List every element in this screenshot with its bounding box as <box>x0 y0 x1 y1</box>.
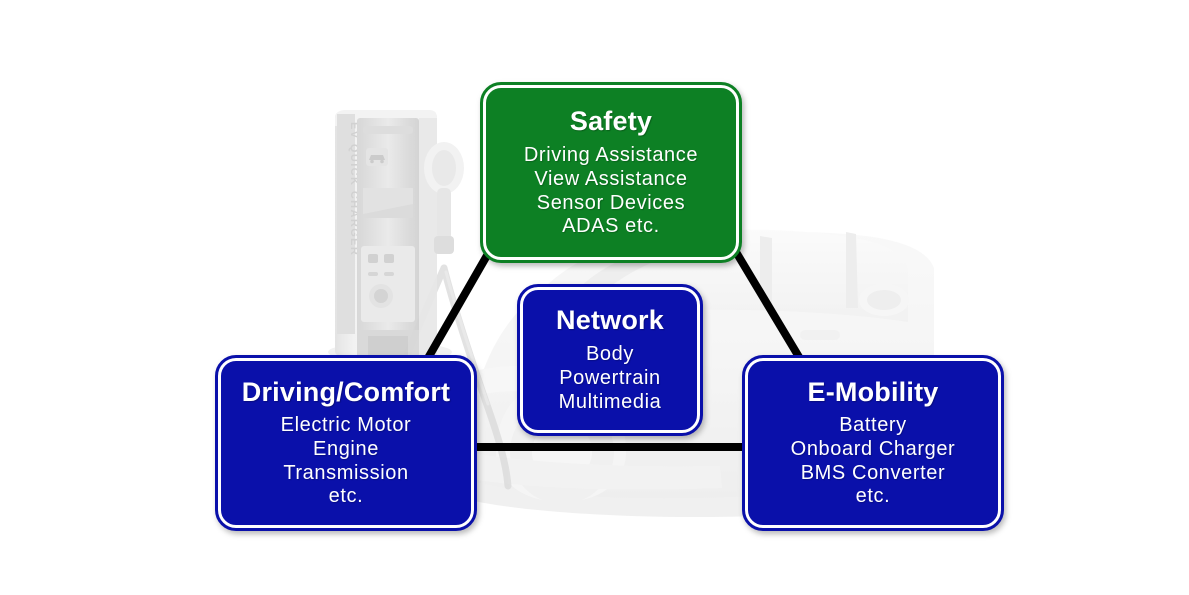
connector-safety-to-emobility <box>736 252 808 372</box>
node-driving-comfort-items: Electric Motor Engine Transmission etc. <box>281 414 412 509</box>
node-network-item: Body <box>559 343 662 367</box>
node-driving-comfort-item: Electric Motor <box>281 414 412 438</box>
node-network[interactable]: Network Body Powertrain Multimedia <box>520 287 700 433</box>
node-safety-item: Driving Assistance <box>524 144 698 168</box>
node-network-item: Multimedia <box>559 391 662 415</box>
node-safety-item: ADAS etc. <box>524 215 698 239</box>
node-safety[interactable]: Safety Driving Assistance View Assistanc… <box>483 85 739 260</box>
node-e-mobility[interactable]: E-Mobility Battery Onboard Charger BMS C… <box>745 358 1001 528</box>
node-network-item: Powertrain <box>559 367 662 391</box>
node-safety-title: Safety <box>570 106 652 136</box>
node-safety-item: View Assistance <box>524 168 698 192</box>
node-e-mobility-item: Onboard Charger <box>791 438 956 462</box>
connector-safety-to-driving <box>420 252 489 372</box>
node-e-mobility-item: Battery <box>791 414 956 438</box>
node-network-items: Body Powertrain Multimedia <box>559 343 662 414</box>
node-safety-item: Sensor Devices <box>524 192 698 216</box>
node-safety-items: Driving Assistance View Assistance Senso… <box>524 144 698 239</box>
node-network-title: Network <box>556 305 664 335</box>
node-driving-comfort-item: Transmission <box>281 462 412 486</box>
node-e-mobility-item: etc. <box>791 485 956 509</box>
node-driving-comfort-item: etc. <box>281 485 412 509</box>
node-driving-comfort[interactable]: Driving/Comfort Electric Motor Engine Tr… <box>218 358 474 528</box>
node-e-mobility-item: BMS Converter <box>791 462 956 486</box>
node-e-mobility-title: E-Mobility <box>808 377 939 407</box>
node-driving-comfort-title: Driving/Comfort <box>242 377 451 407</box>
node-e-mobility-items: Battery Onboard Charger BMS Converter et… <box>791 414 956 509</box>
diagram-canvas: EV QUICK CHARGER <box>0 0 1189 595</box>
node-driving-comfort-item: Engine <box>281 438 412 462</box>
